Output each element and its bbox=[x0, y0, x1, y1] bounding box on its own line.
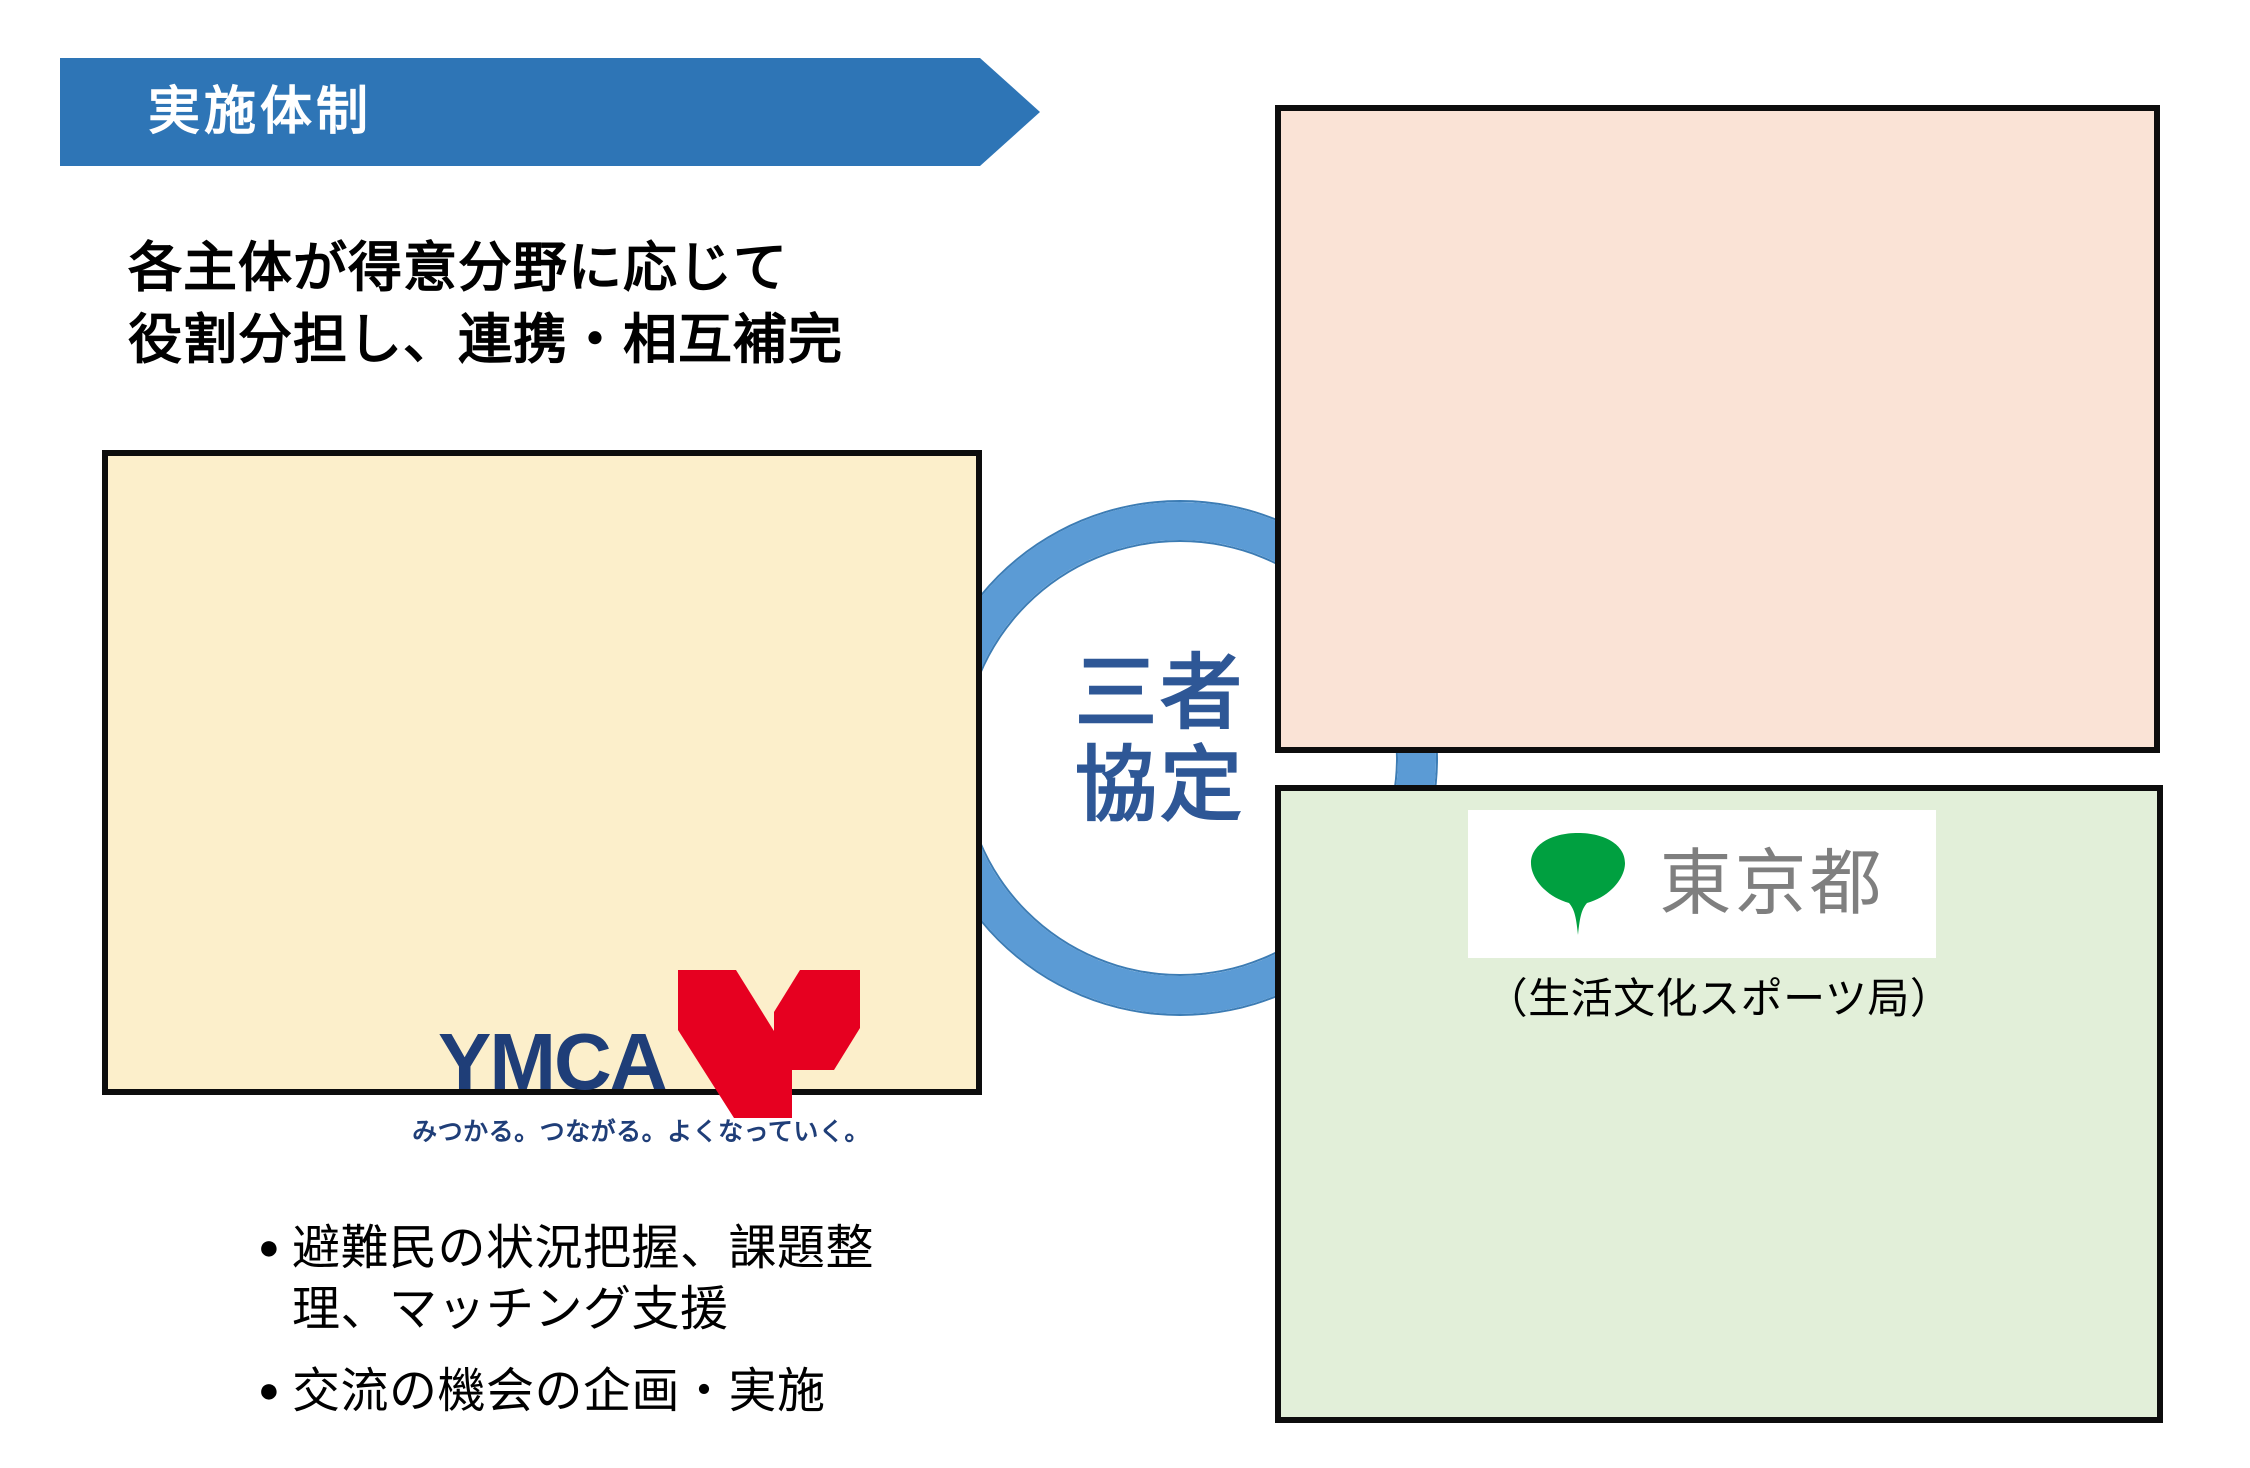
lead-statement: 各主体が得意分野に応じて 役割分担し、連携・相互補完 bbox=[128, 232, 843, 377]
bullet-dot-icon: ● bbox=[258, 1361, 292, 1419]
list-item-label: 交流の機会の企画・実施 bbox=[292, 1361, 1068, 1422]
ymca-logo: YMCA みつかる。つながる。よくなっていく。 bbox=[438, 966, 858, 1161]
tmg-bureau-subtitle: （生活文化スポーツ局） bbox=[1275, 965, 2163, 1026]
ymca-chevron-icon bbox=[674, 966, 864, 1131]
list-item: ● 交流の機会の企画・実施 bbox=[258, 1361, 1068, 1422]
banner-title: 実施体制 bbox=[148, 86, 372, 138]
ginkgo-leaf-icon bbox=[1519, 823, 1637, 946]
tmg-logo: 東京都 bbox=[1468, 810, 1936, 958]
section-banner: 実施体制 bbox=[60, 58, 1040, 166]
diagram-canvas: 実施体制 各主体が得意分野に応じて 役割分担し、連携・相互補完 三者 協定 YM… bbox=[0, 0, 2250, 1468]
bullet-dot-icon: ● bbox=[258, 1218, 292, 1276]
ymca-wordmark: YMCA bbox=[438, 1016, 666, 1108]
ymca-tagline: みつかる。つながる。よくなっていく。 bbox=[406, 1112, 876, 1148]
tripartite-agreement-label: 三者 協定 bbox=[1040, 648, 1280, 832]
list-item: ● 避難民の状況把握、課題整 理、マッチング支援 bbox=[258, 1218, 1068, 1341]
ymca-role-list: ● 避難民の状況把握、課題整 理、マッチング支援 ● 交流の機会の企画・実施 bbox=[258, 1218, 1068, 1422]
ymca-box: YMCA みつかる。つながる。よくなっていく。 ● 避難民の状況把握、課題整 理… bbox=[102, 450, 982, 1095]
foundation-box: 一般財団法人 東京都つながり創生財団 Tokyo Metropolitan Fo… bbox=[1275, 105, 2160, 753]
list-item-label: 避難民の状況把握、課題整 理、マッチング支援 bbox=[292, 1218, 1068, 1341]
tmg-name: 東京都 bbox=[1659, 848, 1884, 920]
